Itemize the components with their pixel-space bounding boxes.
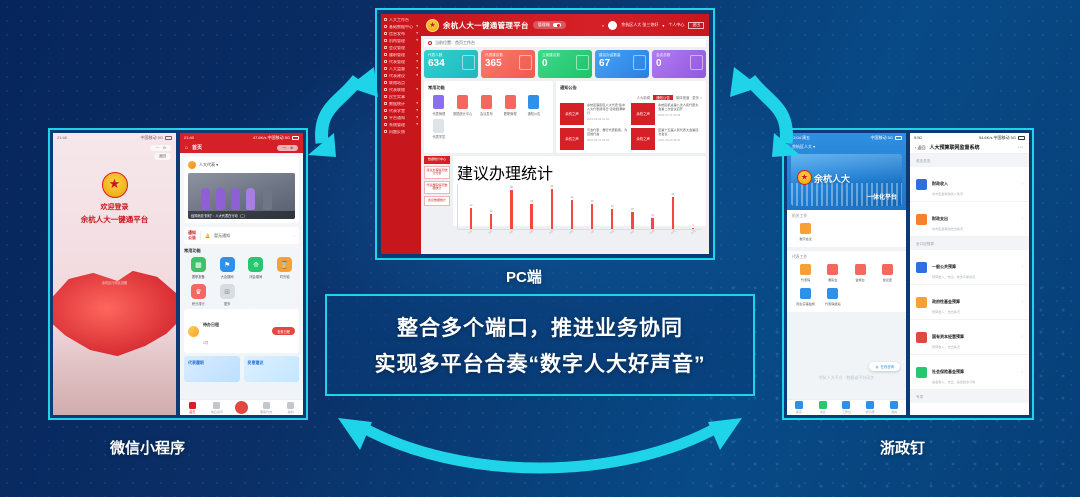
entry-card[interactable]: 民意建议 [244,356,300,382]
chart-side-button[interactable]: 会议数据统计 [424,196,450,206]
tab-contacts[interactable]: 通讯录 [858,401,882,414]
budget-navbar: ‹ 返回 人大预算联网监督系统 ⋯ [910,142,1029,154]
message-icon [819,401,827,409]
toggle-switch-icon[interactable] [553,23,561,27]
sidebar-item-label: 会议管理 [389,46,405,50]
chart-bar-column: 44 [563,184,581,229]
message-line-2: 实现多平台合奏“数字人大好声音” [375,348,706,378]
news-item[interactable]: 余杭之声 余杭区机关第八次人民代表大会第二次会议召开2021-07-21 09:… [631,103,699,125]
view-schedule-button[interactable]: 查看日程 [272,327,295,335]
arrow-left-to-pc [300,45,390,160]
quick-function-item[interactable]: 代表管理 [428,95,450,116]
chevron-down-icon: ▾ [416,67,418,71]
zzd-tabbar: 首页 消息 工作台 通讯录 我的 [787,399,906,415]
news-banner-card[interactable]: 人大代表 ▾ 经风雨见“彩虹”：人大代表在行动（二） [184,157,299,223]
user-group-icon [462,55,475,70]
zzd-panel-label: 浙政钉 [880,437,925,458]
chart-bar [611,209,613,229]
menu-bullet-icon [384,25,387,28]
miniprogram-capsule[interactable]: ⋯ ⊙ [150,145,171,151]
function-item[interactable]: ⌛时光轴 [270,257,299,279]
zzd-banner: 余杭人大 一体化平台 [791,154,902,206]
suggestion-icon [882,264,893,275]
meeting-icon: ⚑ [220,257,235,272]
chart-side-button[interactable]: 代表履职情况数据统计 [424,181,450,194]
item-title: 社会保险基金预算 [932,369,964,374]
list-item[interactable]: 财政支出省市区县财政支出情况 › [910,202,1029,237]
news-tab[interactable]: 媒体报道 [676,95,690,100]
person-icon [890,401,898,409]
app-label: 民生实事监督 [796,301,815,306]
department-icon [916,415,927,416]
chevron-right-icon: › [1021,334,1023,340]
chevron-down-icon: ▾ [416,53,418,57]
tab-label: 我的 [891,410,897,414]
miniprogram-capsule[interactable]: ⋯ ⊗ [277,145,298,151]
page-title: 人大预算联网监督系统 [929,144,979,151]
sidebar-item[interactable]: 信息发布▾ [381,30,421,37]
avatar[interactable] [608,21,617,30]
menu-bullet-icon [384,39,387,42]
back-button[interactable]: ‹ 返回 [915,145,925,151]
calendar-icon: ▦ [191,257,206,272]
status-time: 21:40 [57,135,67,140]
home-icon [795,401,803,409]
trophy-icon: ♛ [191,284,206,299]
chart-bar-column: 58 [502,184,520,229]
banner-photo: 经风雨见“彩虹”：人大代表在行动（二） [188,173,295,219]
function-item[interactable]: ⚑大会期间 [213,257,242,279]
battery-icon [1018,136,1025,140]
item-sub: 省市区县财政支出情况 [932,226,963,231]
app-item[interactable]: 代表码 [792,264,819,282]
suggestion-bar-chart: 建议办理统计 32225838604438302616480 1月2月3月4月5… [453,156,706,226]
status-bar: 21:40 47.6K/s 中国移动 5G [180,133,303,142]
pc-user-center-link[interactable]: 个人中心 [668,22,684,28]
notice-tag: 通知公告 [188,231,201,240]
chart-bar [591,204,593,229]
chevron-right-icon: › [1021,216,1023,222]
quick-function-item[interactable]: 数据统计中心 [452,95,474,116]
stat-card[interactable]: 代表人数 634 [424,50,478,78]
stat-card[interactable]: 代表建议数 365 [481,50,535,78]
more-icon[interactable]: ⋯ [282,146,286,150]
quick-function-label: 代表管理 [433,111,446,116]
chart-bar [571,200,573,229]
card-icon [433,95,444,109]
chevron-down-icon: ▾ [416,74,418,78]
timeline-icon: ⌛ [277,257,292,272]
chart-bar-value: 38 [530,200,533,203]
tab-mine[interactable]: 我的 [278,402,303,414]
chart-bar [672,197,674,229]
pc-header-title: 余杭人大一键通管理平台 [443,20,529,31]
nav-title: 首页 [192,144,202,151]
tab-duty[interactable]: 履职代办 [254,402,279,414]
function-item[interactable]: ▦履职报备 [184,257,213,279]
arrow-pc-to-right [718,45,808,160]
function-label: 更多 [224,301,230,306]
eye-icon [855,264,866,275]
entry-card[interactable]: 代表履职 [184,356,240,382]
grid-icon [842,401,850,409]
news-thumbnail: 余杭之声 [560,128,584,150]
close-icon[interactable]: ⊙ [163,146,166,150]
chevron-down-icon: ▾ [416,123,418,127]
sidebar-item[interactable]: 人大工作台 [381,16,421,23]
tab-message[interactable]: 消息 [811,401,835,414]
item-title: 财政收入 [932,181,948,186]
national-emblem-icon [797,170,812,185]
tab-workbench[interactable]: 工作台 [835,401,859,414]
news-time: 2021-06-23 10:32 [587,117,628,121]
map-caption: 余杭区行政区划图 [53,280,176,285]
chevron-down-icon: ▾ [416,116,418,120]
chevron-right-icon: › [1021,264,1023,270]
chart-bar-value: 60 [550,185,553,188]
expense-icon [916,214,927,225]
list-item[interactable]: 政府性基金预算预算收入、支出情况 › [910,285,1029,320]
functions-section-title: 常用功能 [184,248,299,254]
bell-icon [528,95,539,109]
news-card-title: 通知公告 [560,85,702,91]
sidebar-item-label: 人大监督 [389,67,405,71]
mode-toggle[interactable]: 管理端 [533,21,566,29]
news-text: 区第十五届人民代表大会第四次会议 [658,128,699,136]
list-item[interactable]: 一般公共预算预算收入、支出、收支平衡情况 › [910,250,1029,285]
chart-x-axis: 1月2月3月4月5月6月7月8月9月10月11月12月 [457,230,702,234]
status-carrier: 47.6K/s 中国移动 5G [253,135,290,141]
stat-card[interactable]: 会议总数 0 [652,50,706,78]
chart-bar-column: 32 [462,184,480,229]
income-icon [916,179,927,190]
todo-card[interactable]: 待办日程0项 查看日程 [184,309,299,353]
chart-bar-value: 0 [692,224,693,227]
app-item[interactable]: 建议室 [874,264,901,282]
item-title: 政府性基金预算 [932,299,960,304]
sidebar-item[interactable]: 机构管理▾ [381,37,421,44]
more-icon[interactable]: ⋯ [1017,144,1024,151]
avatar [188,161,196,169]
user-role-label: 人大代表 ▾ [199,162,218,168]
tab-label: 首页 [189,410,195,414]
chevron-right-icon: › [294,233,295,238]
platform-title: 余杭人大一键通平台 [53,214,176,225]
chart-side-buttons: 数据统计中心 建议办理情况统计分析 代表履职情况数据统计 会议数据统计 [424,156,450,226]
tab-home[interactable]: 首页 [787,401,811,414]
entry-card-label: 民意建议 [248,360,264,365]
list-item[interactable]: 国有资本经营预算预算收入、支出情况 › [910,320,1029,355]
item-title: 一般公共预算 [932,264,956,269]
chart-bar-column: 0 [684,184,702,229]
chart-bar-value: 22 [490,210,493,213]
pc-user-name[interactable]: 余杭区人大 张三你好 [621,22,658,28]
entry-card-label: 代表履职 [188,360,204,365]
sidebar-item-label: 平台通知 [389,116,405,120]
news-time: 2021-07-21 09:46 [658,113,699,117]
quick-function-item[interactable]: 履职管理 [499,95,521,116]
news-more-link[interactable]: 更多 > [692,95,702,100]
tab-mine[interactable]: 我的 [882,401,906,414]
sidebar-item-label: 代表管理 [389,60,405,64]
banner-title: 余杭人大 [814,172,850,185]
chart-side-button[interactable]: 数据统计中心 [424,156,450,164]
sidebar-item-label: 人大工作台 [389,18,409,22]
chart-icon [457,95,468,109]
location-icon [428,41,432,45]
function-item[interactable]: ⟰闭会期间 [242,257,271,279]
welcome-text: 欢迎登录 [53,202,176,212]
function-label: 积分排行 [192,301,205,306]
quick-function-item[interactable]: 代表学堂 [428,119,450,140]
logout-button[interactable]: 退出 [688,22,704,29]
quick-function-label: 会议发布 [480,111,493,116]
badge-icon [827,264,838,275]
grid-icon: ⊞ [220,284,235,299]
app-item[interactable]: 监督台 [847,264,874,282]
contacts-icon [866,401,874,409]
chevron-down-icon: ▾ [416,109,418,113]
battery-icon [292,136,299,140]
chart-bar [510,190,512,229]
home-icon [189,402,196,409]
tab-label: 工作台 [842,410,851,414]
sidebar-item-label: 系统管理 [389,123,405,127]
tab-label: 通讯录 [866,410,875,414]
app-label: 履职台 [828,277,837,282]
wechat-miniprogram-panel: 21:40 中国移动 5G ⋯ ⊙ 返回 欢迎登录 余杭人大一键通平台 余杭区行… [48,128,308,420]
tab-center-action[interactable] [229,401,254,414]
phone-login-screen: 21:40 中国移动 5G ⋯ ⊙ 返回 欢迎登录 余杭人大一键通平台 余杭区行… [53,133,176,415]
news-text: 与会代表：履行代表职责，为百姓代言 [587,128,628,136]
group-title: 全口径预算 [910,237,1029,250]
chart-bar-value: 44 [571,196,574,199]
message-line-1: 整合多个端口，推进业务协同 [397,312,683,342]
back-label: 返回 [159,154,166,159]
phone-home-tabbar: 首页 信息资讯 履职代办 我的 [180,399,303,415]
chart-bar-value: 58 [510,186,513,189]
news-text: 余杭区镇街区人大代表“集中人大代表接待日”活动圆满举行 [587,103,628,115]
notice-bar[interactable]: 通知公告 🔔 暂无通知 › [184,227,299,244]
group-title: 专项 [910,390,1029,403]
news-tab-active[interactable]: 通知公告 [653,95,673,100]
duty-icon [263,402,270,409]
quick-function-label: 数据统计中心 [453,111,472,116]
chart-bar-value: 32 [470,204,473,207]
more-icon[interactable]: ⋯ [155,146,159,150]
group-title: 收支总览 [910,154,1029,167]
quick-function-item[interactable]: 通知公告 [523,95,545,116]
banner-subtitle: 一体化平台 [867,192,897,201]
chart-bar-value: 16 [651,214,654,217]
notice-text: 暂无通知 [214,233,230,239]
breadcrumb: 当前位置：首页工作台 [424,39,706,47]
quick-function-item[interactable]: 会议发布 [476,95,498,116]
sidebar-item-label: 问题反馈 [389,130,405,134]
news-thumbnail: 余杭之声 [631,103,655,125]
list-item[interactable]: 部门预算部门预算收支情况 › [910,403,1029,415]
tab-label: 履职代办 [260,410,272,414]
phone-home-navbar: ⌂ 首页 ⋯ ⊗ [180,142,303,153]
status-carrier: 中国移动 5G [871,135,893,141]
chart-title: 建议办理统计 [457,160,702,184]
item-title: 国有资本经营预算 [932,334,964,339]
handshake-icon [633,55,646,70]
tab-home[interactable]: 首页 [180,402,205,414]
chevron-down-icon: ▾ [416,39,418,43]
tab-label: 首页 [796,410,802,414]
chevron-down-icon: ▾ [416,88,418,92]
tab-label: 信息资讯 [211,410,223,414]
edit-icon [481,95,492,109]
status-bar: 9:50 54.6K/s 中国移动 5G [910,133,1029,142]
chevron-down-icon: ▾ [416,32,418,36]
function-label: 大会期间 [221,274,234,279]
chart-bar-column: 26 [623,184,641,229]
sidebar-item-label: 履职管理 [389,53,405,57]
chart-bar-value: 26 [631,208,634,211]
function-item[interactable]: ♛积分排行 [184,284,213,306]
chart-bars: 32225838604438302616480 [457,184,702,230]
status-carrier: 中国移动 5G [141,135,163,141]
chat-icon: ◍ [875,365,878,369]
budget-icon [916,262,927,273]
chevron-down-icon[interactable]: ▾ [662,23,664,28]
item-sub: 预算收入、支出、收支平衡情况 [932,274,975,279]
chart-bar-column: 48 [664,184,682,229]
arrow-bottom-bidirectional [320,400,760,490]
phone-budget-screen: 9:50 54.6K/s 中国移动 5G ‹ 返回 人大预算联网监督系统 ⋯ 收… [910,133,1029,415]
national-emblem-icon [102,172,128,198]
pc-dashboard-panel: 人大工作台 基础数据中心▾ 信息发布▾ 机构管理▾ 会议管理 履职管理▾ 代表管… [375,8,715,260]
stat-card[interactable]: 立案建议数 0 [538,50,592,78]
qrcode-icon [800,264,811,275]
person-icon [519,55,532,70]
close-icon[interactable]: ⊗ [290,146,293,150]
news-item[interactable]: 余杭之声 余杭区镇街区人大代表“集中人大代表接待日”活动圆满举行2021-06-… [560,103,628,125]
sidebar-item-label: 代表学堂 [389,109,405,113]
quick-functions-card: 常用功能 代表管理 数据统计中心 会议发布 履职管理 通知公告 代表学堂 [424,81,553,153]
function-item[interactable]: ⊞更多 [213,284,242,306]
back-button[interactable]: 返回 [154,153,171,160]
sidebar-item-label: 代表联络 [389,88,405,92]
station-icon [827,288,838,299]
chevron-right-icon: › [1021,299,1023,305]
status-bar: 21:40 中国移动 5G [53,133,176,142]
search-icon[interactable]: ⌕ [602,23,604,28]
chart-bar-column: 16 [644,184,662,229]
news-item[interactable]: 余杭之声 区第十五届人民代表大会第四次会议2021-05-20 08:41 [631,128,699,150]
quick-function-label: 代表学堂 [433,134,446,139]
quick-function-label: 履职管理 [504,111,517,116]
document-icon [690,55,703,70]
functions-grid: ▦履职报备 ⚑大会期间 ⟰闭会期间 ⌛时光轴 ♛积分排行 ⊞更多 [184,257,299,306]
fund-icon [916,297,927,308]
chart-bar [530,204,532,229]
message-callout: 整合多个端口，推进业务协同 实现多平台合奏“数字人大好声音” [325,294,755,396]
item-sub: 预算收入、支出情况 [932,344,964,349]
news-thumbnail: 余杭之声 [560,103,584,125]
chart-bar-value: 48 [671,193,674,196]
wechat-panel-label: 微信小程序 [110,437,185,458]
news-time: 2021-06-12 09:02 [587,138,628,142]
app-item[interactable]: 数字会议 [792,223,819,241]
list-item[interactable]: 财政收入省市区县财政收入情况 › [910,167,1029,202]
section-agency-work: 机关工作 数字会议 [787,210,906,247]
function-label: 时光轴 [280,274,290,279]
app-label: 监督台 [855,277,864,282]
banner-caption: 经风雨见“彩虹”：人大代表在行动（二） [188,211,295,219]
people-icon [800,288,811,299]
news-tab[interactable]: 人大新闻 [637,95,651,100]
section-deputy-work: 代表工作 代表码 履职台 监督台 建议室 民生实事监督 代表联络站 [787,251,906,312]
chart-side-button[interactable]: 建议办理情况统计分析 [424,166,450,179]
chart-bar-column: 60 [543,184,561,229]
tab-label: 我的 [288,410,294,414]
function-label: 履职报备 [192,274,205,279]
pc-header: 余杭人大一键通管理平台 管理端 ⌕ 余杭区人大 张三你好 ▾ 个人中心 退出 [421,14,709,36]
home-icon[interactable]: ⌂ [185,145,188,151]
app-item[interactable]: 代表联络站 [819,288,846,306]
item-sub: 省市区县财政收入情况 [932,191,963,196]
menu-bullet-icon [384,18,387,21]
chart-bar [470,208,472,229]
news-icon [213,402,220,409]
app-label: 建议室 [883,277,892,282]
tab-news[interactable]: 信息资讯 [205,402,230,414]
news-thumbnail: 余杭之声 [631,128,655,150]
sidebar-item-label: 代表建议 [389,74,405,78]
book-icon [433,119,444,133]
chevron-down-icon: ▾ [416,25,418,29]
watermark-text: 余杭人大平台 · 数据省平台同步 [787,375,906,381]
chevron-right-icon: › [1021,369,1023,375]
sidebar-item-label: 联络站点 [389,81,405,85]
chevron-down-icon: ▾ [416,102,418,106]
app-label: 代表联络站 [825,301,840,306]
list-item[interactable]: 社会保险基金预算基金收入、支出、基金结余平衡 › [910,355,1029,390]
national-emblem-icon [426,19,439,32]
emblem-icon [235,401,248,414]
chevron-down-icon: ▾ [416,60,418,64]
sidebar-item-label: 信息发布 [389,32,405,36]
user-role-selector[interactable]: 人大代表 ▾ [188,161,295,169]
item-title: 财政支出 [932,216,948,221]
sidebar-item[interactable]: 基础数据中心▾ [381,23,421,30]
meeting-icon [800,223,811,234]
chart-bar-column: 30 [603,184,621,229]
app-item[interactable]: 民生实事监督 [792,288,819,306]
todo-count: 0项 [203,341,208,345]
online-consult-button[interactable]: ◍ 在线咨询 [869,362,900,371]
insurance-icon [916,367,927,378]
news-card: 通知公告 人大新闻 通知公告 媒体报道 更多 > 余杭之声 余杭区镇街区人大代表… [556,81,706,153]
stat-card[interactable]: 建议办结数量 67 [595,50,649,78]
pc-panel-label: PC端 [506,266,542,287]
item-sub: 预算收入、支出情况 [932,309,960,314]
stat-card-row: 代表人数 634 代表建议数 365 立案建议数 0 [424,50,706,78]
zzd-panel: 12:04 周五 中国移动 5G 余杭区人大 ▾ 余杭人大 一体化平台 机关工作… [782,128,1034,420]
app-item[interactable]: 履职台 [819,264,846,282]
section-title: 机关工作 [792,214,901,219]
news-item[interactable]: 余杭之声 与会代表：履行代表职责，为百姓代言2021-06-12 09:02 [560,128,628,150]
chart-bar-value: 30 [611,205,614,208]
status-carrier: 54.6K/s 中国移动 5G [979,135,1016,141]
todo-title: 待办日程 [203,322,219,327]
bell-icon: 🔔 [205,233,210,238]
news-text: 余杭区机关第八次人民代表大会第二次会议召开 [658,103,699,111]
briefcase-icon [188,326,199,337]
